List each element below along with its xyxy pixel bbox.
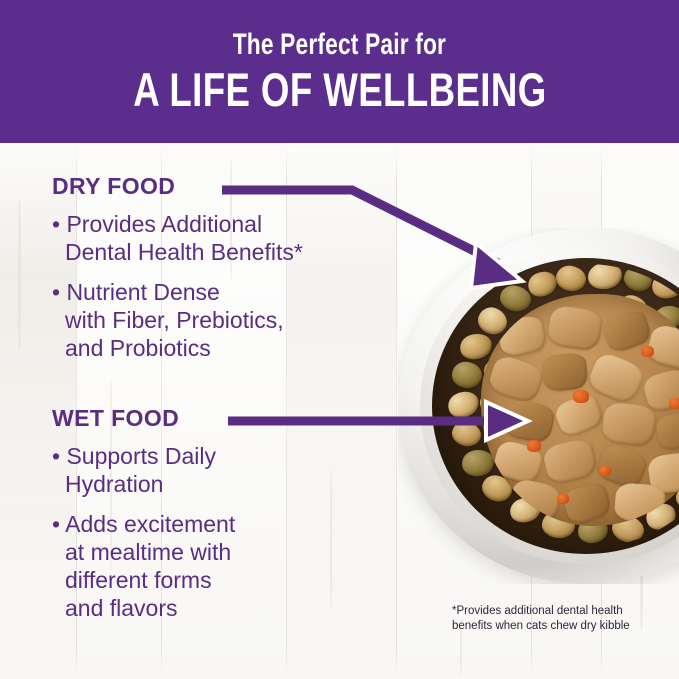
infographic-page: The Perfect Pair for A LIFE OF WELLBEING <box>0 0 679 679</box>
wet-food-bullets: • Supports Daily Hydration • Adds excite… <box>52 442 392 622</box>
list-item: • Adds excitement at mealtime with diffe… <box>52 510 392 622</box>
wet-food-heading: WET FOOD <box>52 406 392 430</box>
footnote-text: *Provides additional dental health benef… <box>452 604 672 634</box>
list-item: • Provides Additional Dental Health Bene… <box>52 210 392 266</box>
wet-food-section: WET FOOD • Supports Daily Hydration • Ad… <box>52 406 392 622</box>
header-title: A LIFE OF WELLBEING <box>133 65 546 114</box>
list-item: • Supports Daily Hydration <box>52 442 392 498</box>
header-banner: The Perfect Pair for A LIFE OF WELLBEING <box>0 0 679 143</box>
header-subtitle: The Perfect Pair for <box>233 29 446 61</box>
dry-food-heading: DRY FOOD <box>52 174 392 198</box>
list-item: • Nutrient Dense with Fiber, Prebiotics,… <box>52 278 392 362</box>
dry-food-section: DRY FOOD • Provides Additional Dental He… <box>52 174 392 362</box>
dry-food-bullets: • Provides Additional Dental Health Bene… <box>52 210 392 362</box>
food-bowl-photo <box>398 228 679 584</box>
